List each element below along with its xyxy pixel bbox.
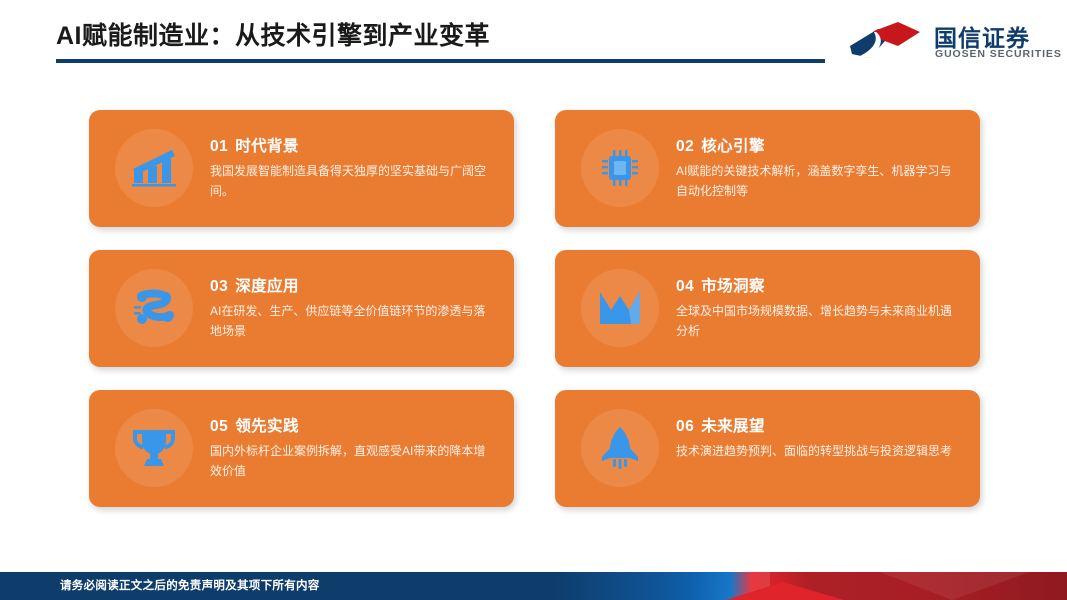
agenda-card-heading: 06未来展望	[676, 414, 966, 436]
agenda-card-body: 05领先实践 国内外标杆企业案例拆解，直观感受AI带来的降本增效价值	[210, 414, 500, 481]
agenda-card-05[interactable]: 05领先实践 国内外标杆企业案例拆解，直观感受AI带来的降本增效价值	[89, 390, 514, 507]
agenda-card-description: 国内外标杆企业案例拆解，直观感受AI带来的降本增效价值	[210, 441, 491, 481]
agenda-card-number: 03	[210, 278, 228, 295]
network-nodes-icon	[115, 269, 193, 347]
agenda-card-description: AI赋能的关键技术解析，涵盖数字孪生、机器学习与自动化控制等	[676, 161, 957, 201]
agenda-card-title: 时代背景	[235, 138, 299, 155]
agenda-card-02[interactable]: 02核心引擎 AI赋能的关键技术解析，涵盖数字孪生、机器学习与自动化控制等	[555, 110, 980, 227]
agenda-card-04[interactable]: 04市场洞察 全球及中国市场规模数据、增长趋势与未来商业机遇分析	[555, 250, 980, 367]
agenda-card-body: 02核心引擎 AI赋能的关键技术解析，涵盖数字孪生、机器学习与自动化控制等	[676, 134, 966, 201]
agenda-card-title: 核心引擎	[701, 138, 765, 155]
slide-footer: 请务必阅读正文之后的免责声明及其项下所有内容	[0, 572, 1067, 600]
agenda-card-title: 未来展望	[701, 418, 765, 435]
agenda-card-description: 我国发展智能制造具备得天独厚的坚实基础与广阔空间。	[210, 161, 491, 201]
agenda-card-description: AI在研发、生产、供应链等全价值链环节的渗透与落地场景	[210, 301, 491, 341]
agenda-card-body: 03深度应用 AI在研发、生产、供应链等全价值链环节的渗透与落地场景	[210, 274, 500, 341]
agenda-card-body: 04市场洞察 全球及中国市场规模数据、增长趋势与未来商业机遇分析	[676, 274, 966, 341]
bar-chart-growth-icon	[115, 129, 193, 207]
logo-name-en: GUOSEN SECURITIES	[935, 48, 1062, 60]
agenda-card-body: 01时代背景 我国发展智能制造具备得天独厚的坚实基础与广阔空间。	[210, 134, 500, 201]
agenda-card-heading: 02核心引擎	[676, 134, 966, 156]
agenda-card-heading: 01时代背景	[210, 134, 500, 156]
agenda-card-06[interactable]: 06未来展望 技术演进趋势预判、面临的转型挑战与投资逻辑思考	[555, 390, 980, 507]
agenda-card-heading: 04市场洞察	[676, 274, 966, 296]
agenda-card-number: 02	[676, 138, 694, 155]
agenda-card-heading: 03深度应用	[210, 274, 500, 296]
microchip-icon	[581, 129, 659, 207]
agenda-card-03[interactable]: 03深度应用 AI在研发、生产、供应链等全价值链环节的渗透与落地场景	[89, 250, 514, 367]
agenda-card-number: 01	[210, 138, 228, 155]
title-underline-rule	[56, 59, 825, 63]
brand-logo: 国信证券 GUOSEN SECURITIES	[848, 18, 1028, 66]
guosen-logo-mark-icon	[848, 20, 922, 64]
agenda-card-number: 06	[676, 418, 694, 435]
trophy-icon	[115, 409, 193, 487]
agenda-card-grid: 01时代背景 我国发展智能制造具备得天独厚的坚实基础与广阔空间。 02核心引擎	[89, 110, 980, 508]
area-chart-icon	[581, 269, 659, 347]
footer-disclaimer: 请务必阅读正文之后的免责声明及其项下所有内容	[60, 572, 320, 600]
agenda-card-description: 全球及中国市场规模数据、增长趋势与未来商业机遇分析	[676, 301, 957, 341]
agenda-card-heading: 05领先实践	[210, 414, 500, 436]
agenda-card-title: 深度应用	[235, 278, 299, 295]
page-title: AI赋能制造业：从技术引擎到产业变革	[56, 16, 490, 52]
agenda-card-body: 06未来展望 技术演进趋势预判、面临的转型挑战与投资逻辑思考	[676, 414, 966, 461]
slide-header: AI赋能制造业：从技术引擎到产业变革 国信证券 GUOSEN SECURITIE…	[0, 0, 1067, 90]
agenda-card-title: 市场洞察	[701, 278, 765, 295]
agenda-card-number: 05	[210, 418, 228, 435]
agenda-card-description: 技术演进趋势预判、面临的转型挑战与投资逻辑思考	[676, 441, 957, 461]
rocket-icon	[581, 409, 659, 487]
agenda-card-number: 04	[676, 278, 694, 295]
agenda-card-01[interactable]: 01时代背景 我国发展智能制造具备得天独厚的坚实基础与广阔空间。	[89, 110, 514, 227]
agenda-card-title: 领先实践	[235, 418, 299, 435]
